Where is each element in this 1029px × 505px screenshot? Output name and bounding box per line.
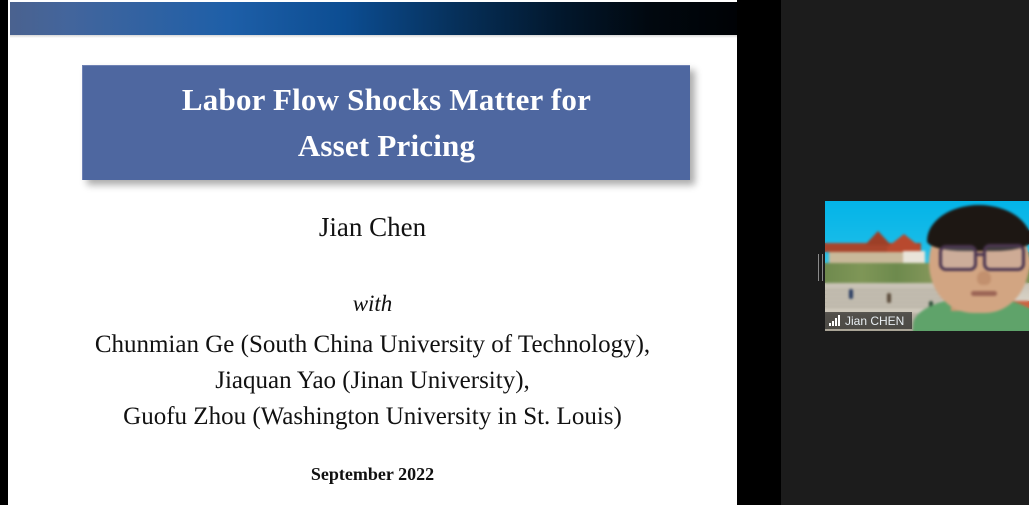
video-steps [825, 287, 945, 309]
presenter-name: Jian Chen [8, 212, 737, 243]
video-background-person [887, 293, 891, 303]
participant-name-label: Jian CHEN [845, 314, 904, 328]
coauthor-line: Guofu Zhou (Washington University in St.… [8, 399, 737, 435]
signal-bars-icon [829, 315, 840, 326]
presentation-slide[interactable]: Labor Flow Shocks Matter for Asset Prici… [8, 0, 737, 505]
coauthor-line: Chunmian Ge (South China University of T… [8, 327, 737, 363]
coauthor-list: Chunmian Ge (South China University of T… [8, 327, 737, 435]
screen: Labor Flow Shocks Matter for Asset Prici… [0, 0, 1029, 505]
slide-title-line-2: Asset Pricing [298, 123, 475, 169]
slide-title-box: Labor Flow Shocks Matter for Asset Prici… [82, 65, 690, 180]
with-label: with [8, 291, 737, 317]
video-participant-glasses-right [983, 244, 1025, 271]
video-background-person [849, 289, 853, 299]
participant-name-badge: Jian CHEN [825, 312, 912, 329]
slide-title-line-1: Labor Flow Shocks Matter for [182, 77, 591, 123]
participant-video-tile[interactable]: Jian CHEN [825, 201, 1029, 331]
video-participant-mouth [971, 291, 997, 296]
coauthor-line: Jiaquan Yao (Jinan University), [8, 363, 737, 399]
drag-handle-icon[interactable] [816, 254, 825, 281]
video-participant-glasses-left [939, 245, 977, 271]
slide-date: September 2022 [8, 464, 737, 485]
video-participant-nose [977, 271, 991, 285]
slide-header-band [10, 2, 737, 35]
slide-header-band-shadow [10, 35, 737, 38]
video-participant-glasses-bridge [976, 253, 985, 256]
